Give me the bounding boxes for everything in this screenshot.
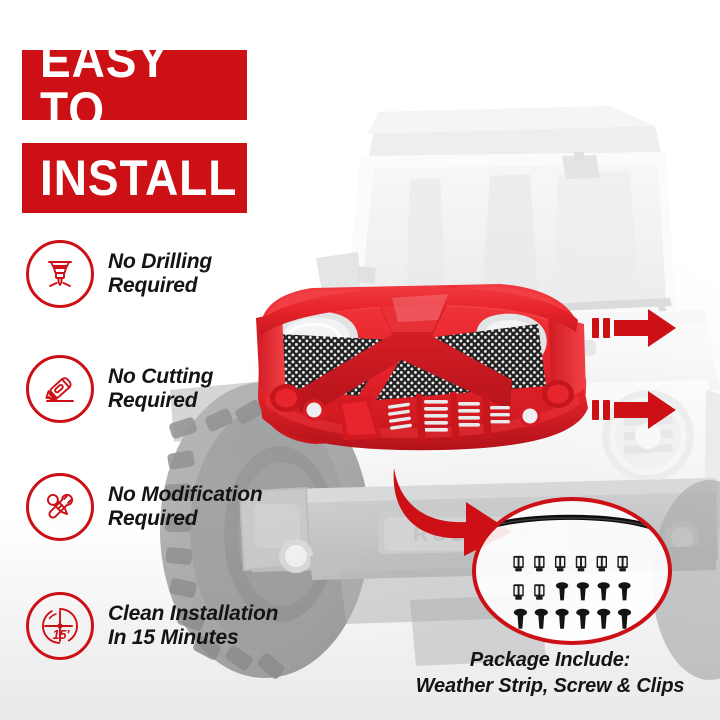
- headline-line-2: INSTALL: [40, 153, 237, 203]
- clip-row-2: [513, 584, 544, 600]
- feature-label: No ModificationRequired: [108, 483, 262, 532]
- feature-label: Clean InstallationIn 15 Minutes: [108, 602, 278, 651]
- headline-line-1: EASY TO: [40, 35, 230, 135]
- drill-icon: [26, 240, 94, 308]
- package-include-caption: Package Include: Weather Strip, Screw & …: [390, 648, 710, 699]
- utility-knife-icon: [26, 355, 94, 423]
- clock-15-icon: 15': [26, 592, 94, 660]
- headline-banner-install: INSTALL: [22, 143, 247, 213]
- package-caption-line-1: Package Include:: [390, 648, 710, 674]
- screw-row-3: [514, 609, 631, 629]
- feature-no-modification: No ModificationRequired: [26, 473, 262, 541]
- clock-value-text: 15': [53, 628, 71, 642]
- motion-arrow-right-top: [592, 306, 678, 350]
- feature-no-cutting: No CuttingRequired: [26, 355, 213, 423]
- screw-row-2: [556, 582, 631, 600]
- weather-strip: [493, 517, 654, 527]
- infographic-canvas: RUBICON EASY TO INSTALL: [0, 0, 720, 720]
- feature-clean-installation: 15' Clean InstallationIn 15 Minutes: [26, 592, 278, 660]
- motion-arrow-right-bottom: [592, 388, 678, 432]
- feature-no-drilling: No DrillingRequired: [26, 240, 212, 308]
- hardware-contents-circle: [472, 497, 672, 645]
- clip-row-1: [513, 556, 627, 572]
- angry-bird-front-grille[interactable]: [242, 276, 602, 466]
- wrench-screwdriver-icon: [26, 473, 94, 541]
- package-caption-line-2: Weather Strip, Screw & Clips: [390, 674, 710, 700]
- feature-label: No CuttingRequired: [108, 365, 213, 414]
- feature-label: No DrillingRequired: [108, 250, 212, 299]
- headline-banner-easy: EASY TO: [22, 50, 247, 120]
